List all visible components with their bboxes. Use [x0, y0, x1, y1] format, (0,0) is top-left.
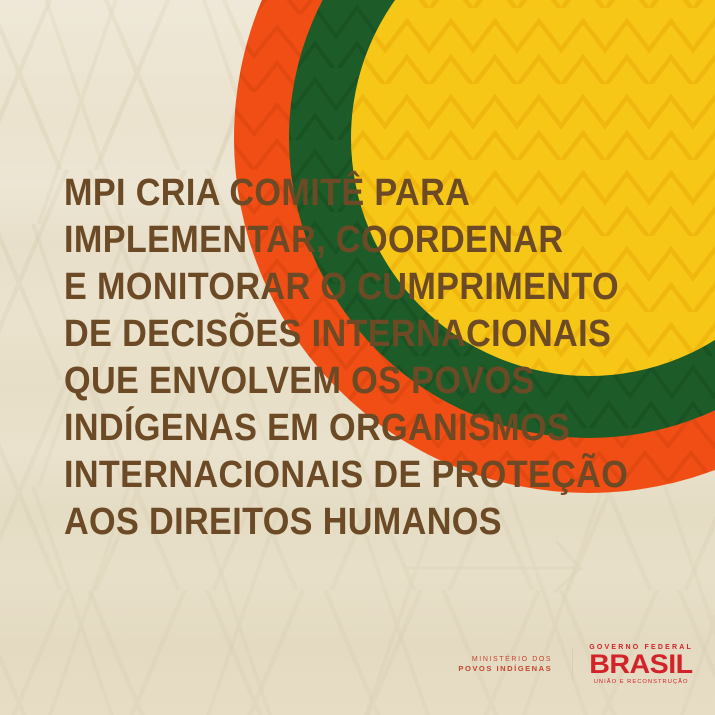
gov-logo-brand-text: BRASIL — [586, 652, 696, 677]
headline-line: QUE ENVOLVEM OS POVOS — [64, 358, 514, 405]
social-media-poster: MPI CRIA COMITÊ PARA IMPLEMENTAR, COORDE… — [0, 0, 715, 715]
ministry-logo-line-1: MINISTÉRIO DOS — [458, 655, 552, 664]
headline-line: MPI CRIA COMITÊ PARA — [64, 170, 514, 217]
headline-line: E MONITORAR O CUMPRIMENTO — [64, 264, 514, 311]
ministry-logo-line-2: POVOS INDÍGENAS — [458, 664, 552, 674]
ministry-of-indigenous-peoples-logo: MINISTÉRIO DOS POVOS INDÍGENAS — [458, 655, 556, 675]
headline-line: INTERNACIONAIS DE PROTEÇÃO — [64, 452, 514, 499]
headline-line: DE DECISÕES INTERNACIONAIS — [64, 311, 514, 358]
headline-line: AOS DIREITOS HUMANOS — [64, 499, 514, 546]
federal-government-brasil-logo: GOVERNO FEDERAL BRASIL UNIÃO E RECONSTRU… — [589, 644, 693, 685]
headline-line: INDÍGENAS EM ORGANISMOS — [64, 405, 514, 452]
logo-divider — [572, 648, 573, 682]
gov-logo-bottom-text: UNIÃO E RECONSTRUÇÃO — [589, 679, 693, 685]
headline: MPI CRIA COMITÊ PARA IMPLEMENTAR, COORDE… — [64, 170, 564, 546]
headline-line: IMPLEMENTAR, COORDENAR — [64, 217, 514, 264]
footer-logos: MINISTÉRIO DOS POVOS INDÍGENAS GOVERNO F… — [458, 644, 693, 685]
